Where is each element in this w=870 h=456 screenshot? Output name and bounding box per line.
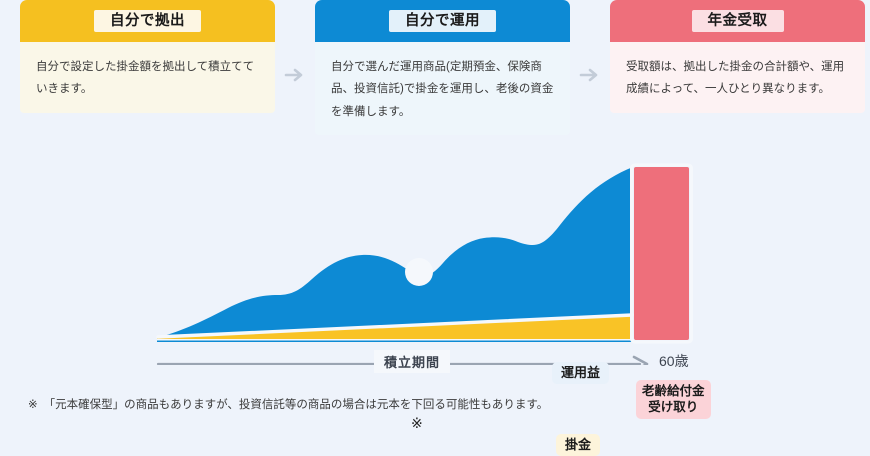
chart-label-investment-gain: 運用益: [552, 362, 609, 384]
chart-asterisk-marker: ※: [411, 416, 423, 430]
card-contribute: 自分で拠出 自分で設定した掛金額を拠出して積立てていきます。: [20, 0, 275, 113]
card-manage-header: 自分で運用: [315, 0, 570, 42]
card-receive-body: 受取額は、拠出した掛金の合計額や、運用成績によって、一人ひとり異なります。: [610, 42, 865, 113]
chart-label-pension-payout-line1: 老齢給付金: [642, 384, 705, 400]
process-steps: 自分で拠出 自分で設定した掛金額を拠出して積立てていきます。 自分で運用 自分で…: [0, 0, 870, 150]
chart-area-investment-gain: [157, 167, 633, 342]
chart-label-pension-payout-line2: 受け取り: [642, 400, 705, 416]
card-manage-body: 自分で選んだ運用商品(定期預金、保険商品、投資信託)で掛金を運用し、老後の資金を…: [315, 42, 570, 135]
chart-dip-notch: [405, 258, 433, 286]
footnote-mark: ※: [28, 399, 38, 411]
step-separator-2: [570, 0, 610, 150]
arrow-right-icon: [284, 65, 306, 85]
step-separator-1: [275, 0, 315, 150]
card-receive: 年金受取 受取額は、拠出した掛金の合計額や、運用成績によって、一人ひとり異なりま…: [610, 0, 865, 113]
footnote: ※「元本確保型」の商品もありますが、投資信託等の商品の場合は元本を下回る可能性も…: [28, 396, 548, 412]
chart-label-contribution: 掛金: [556, 434, 600, 456]
card-contribute-title: 自分で拠出: [94, 10, 201, 33]
axis-period-label: 積立期間: [374, 350, 450, 373]
chart-canvas: [0, 150, 870, 365]
arrow-right-icon: [579, 65, 601, 85]
axis-end-age-label: 60歳: [659, 351, 689, 371]
chart-label-pension-payout: 老齢給付金 受け取り: [636, 380, 711, 419]
card-manage-title: 自分で運用: [389, 10, 496, 33]
card-manage: 自分で運用 自分で選んだ運用商品(定期預金、保険商品、投資信託)で掛金を運用し、…: [315, 0, 570, 135]
accumulation-chart: 運用益 掛金 老齢給付金 受け取り ※: [0, 150, 870, 365]
card-contribute-body: 自分で設定した掛金額を拠出して積立てていきます。: [20, 42, 275, 113]
chart-payout-bar: [634, 167, 689, 340]
card-receive-header: 年金受取: [610, 0, 865, 42]
card-contribute-header: 自分で拠出: [20, 0, 275, 42]
footnote-text: 「元本確保型」の商品もありますが、投資信託等の商品の場合は元本を下回る可能性もあ…: [44, 399, 549, 411]
chart-baseline: [157, 339, 634, 341]
card-receive-title: 年金受取: [692, 10, 784, 33]
